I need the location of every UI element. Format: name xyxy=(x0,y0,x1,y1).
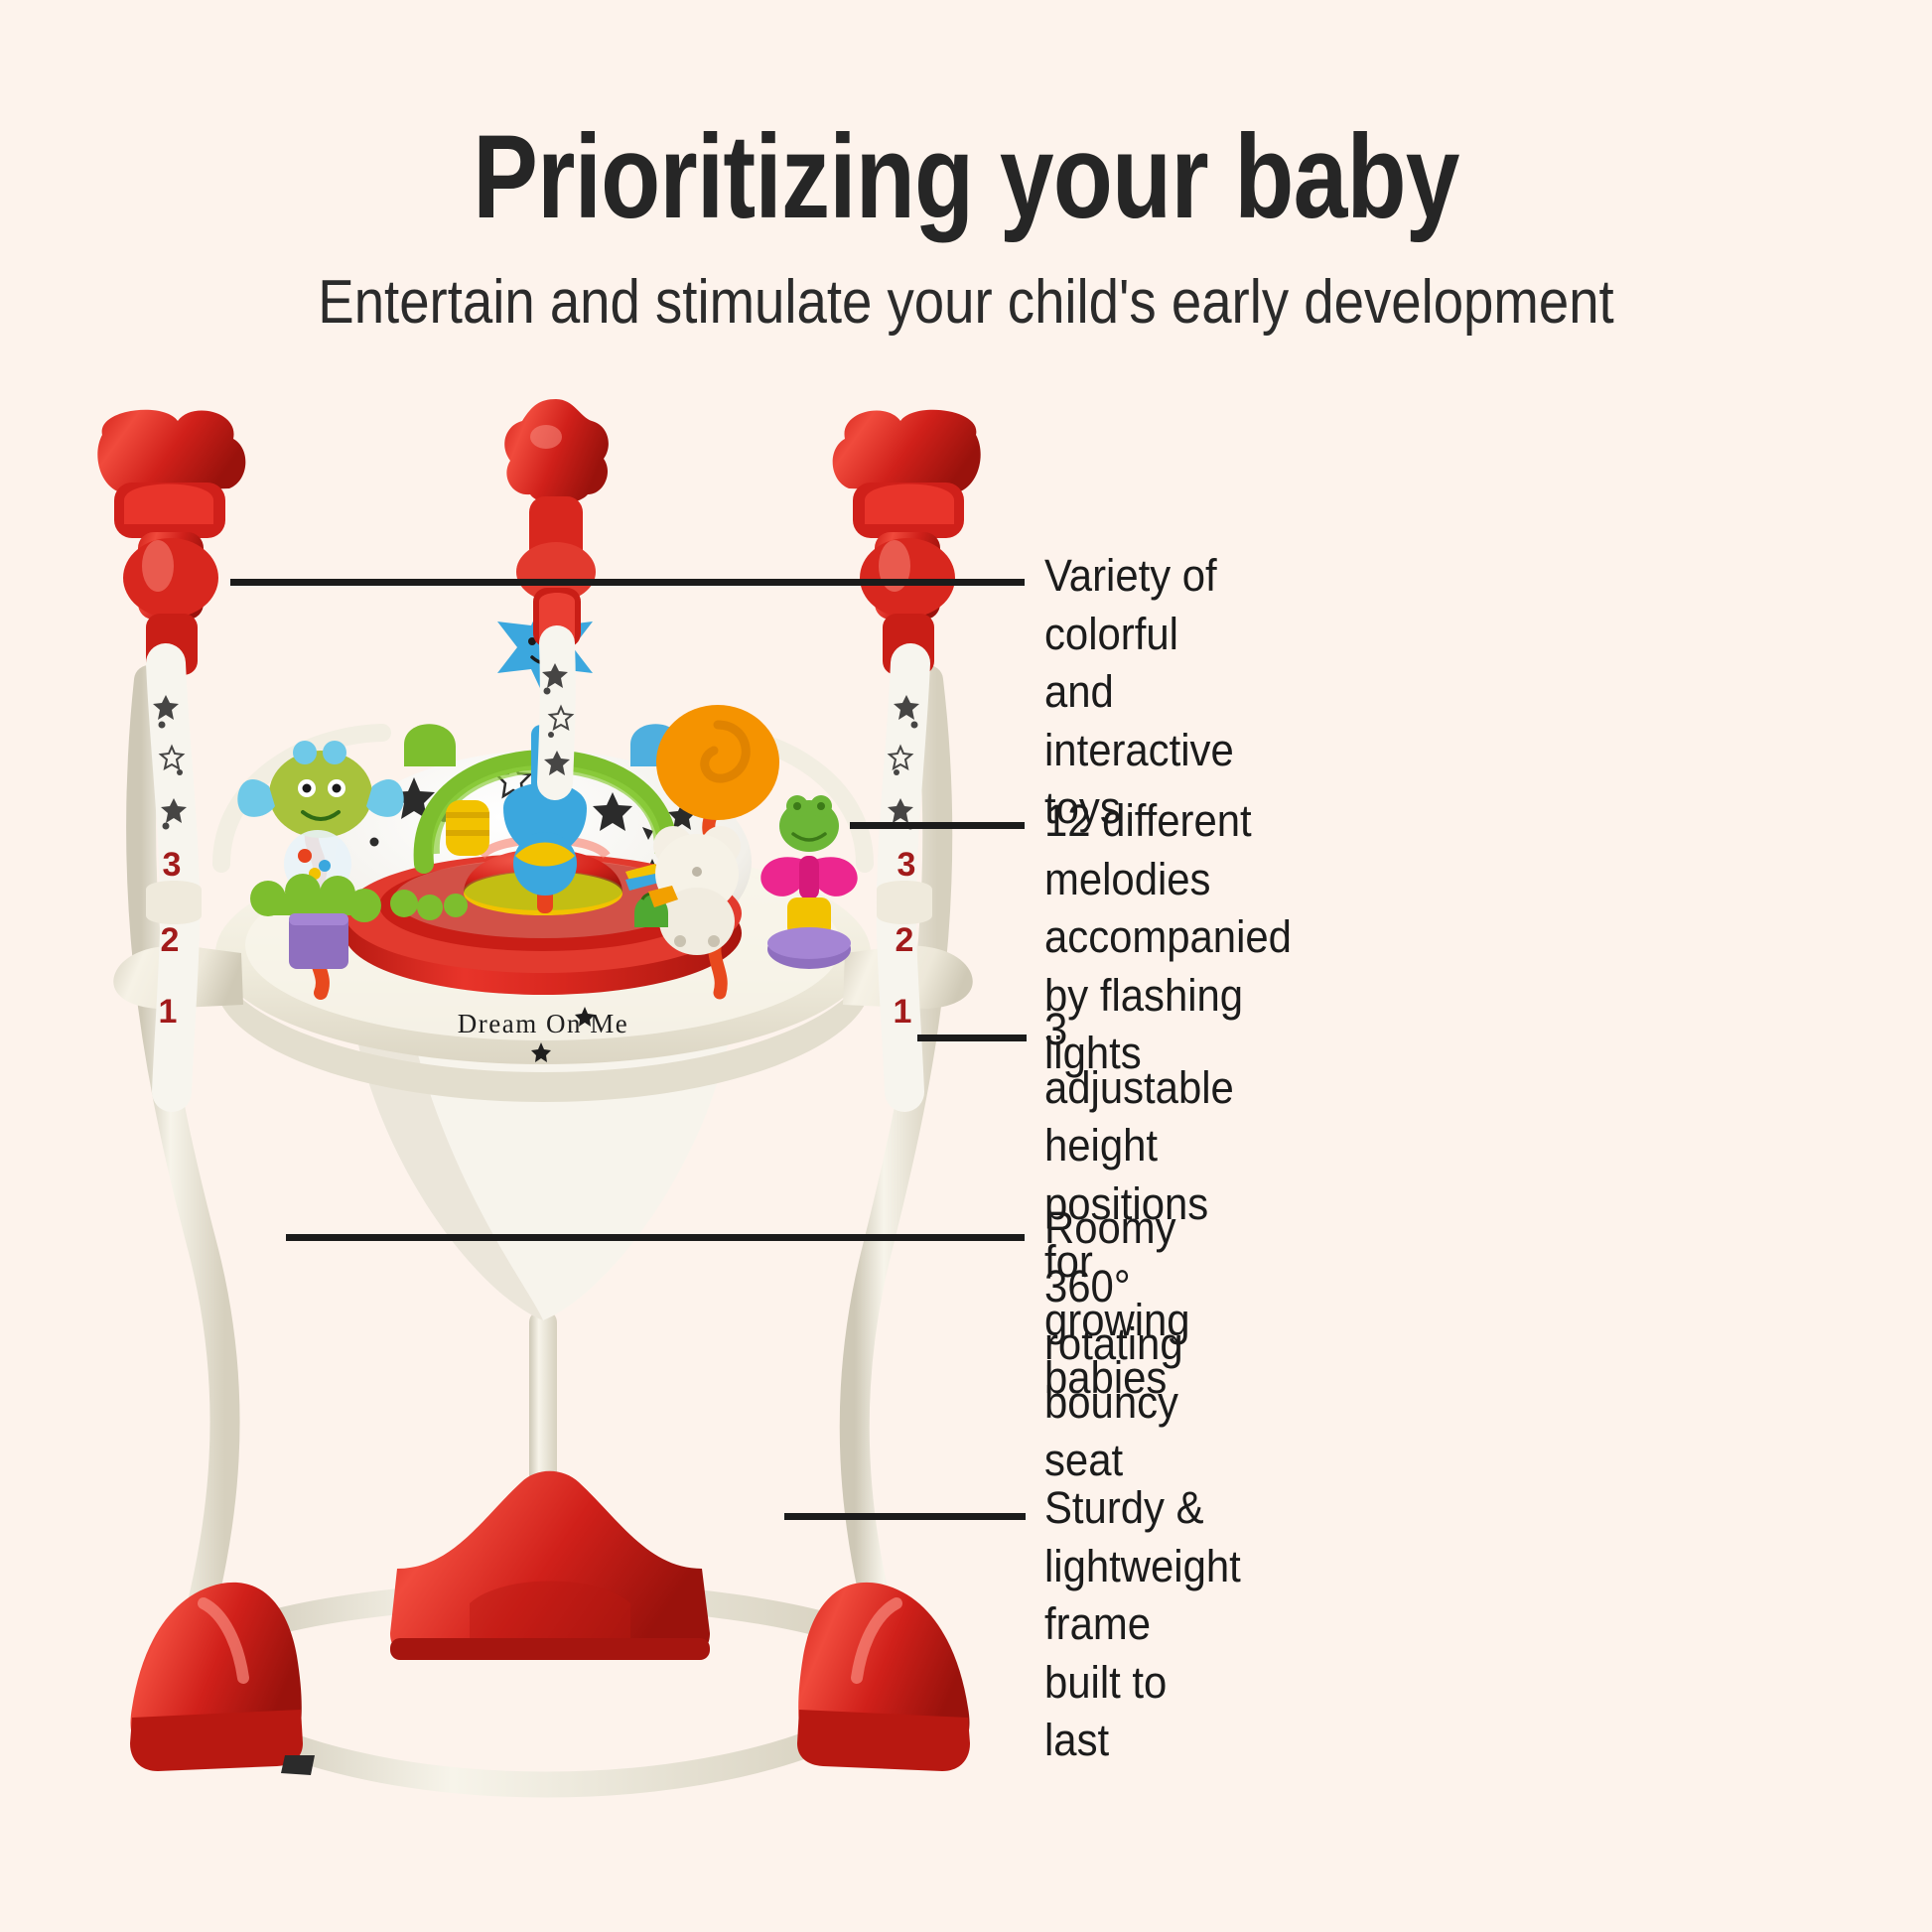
page-subtitle: Entertain and stimulate your child's ear… xyxy=(116,272,1816,334)
callout-line-melodies xyxy=(850,822,1025,829)
height-adjuster-right xyxy=(877,881,932,924)
callout-text-frame: Sturdy & lightweight frame built to last xyxy=(1044,1479,1241,1770)
pink-butterfly-rattle xyxy=(760,795,857,969)
page-title: Prioritizing your baby xyxy=(174,117,1758,236)
strap-number-3-right: 3 xyxy=(897,846,916,884)
header: Prioritizing your baby Entertain and sti… xyxy=(0,117,1932,334)
yellow-barrel-toy xyxy=(446,800,489,856)
callout-line-toys xyxy=(230,579,1025,586)
red-star-knob xyxy=(504,399,609,504)
infographic-stage: Prioritizing your baby Entertain and sti… xyxy=(0,0,1932,1932)
strap-number-3: 3 xyxy=(163,846,182,884)
product-image: Dream On Me xyxy=(55,397,1057,1807)
post-center-top xyxy=(504,399,609,782)
callout-line-frame xyxy=(784,1513,1026,1520)
callout-line-seat xyxy=(286,1234,1025,1241)
strap-number-2-right: 2 xyxy=(896,921,914,959)
green-knob xyxy=(404,724,456,766)
height-adjuster-left xyxy=(146,881,202,924)
strap-number-2: 2 xyxy=(161,921,180,959)
green-frog-head xyxy=(779,795,839,852)
strap-number-1-right: 1 xyxy=(894,993,912,1031)
center-base xyxy=(390,1471,710,1660)
callout-line-height xyxy=(917,1035,1027,1041)
strap-number-1: 1 xyxy=(159,993,178,1031)
foot-right xyxy=(797,1583,970,1771)
frame-ring-front xyxy=(228,1718,867,1785)
callout-text-seat: Roomy 360° rotating bouncy seat xyxy=(1044,1199,1183,1490)
brand-logo-text: Dream On Me xyxy=(458,1009,628,1038)
